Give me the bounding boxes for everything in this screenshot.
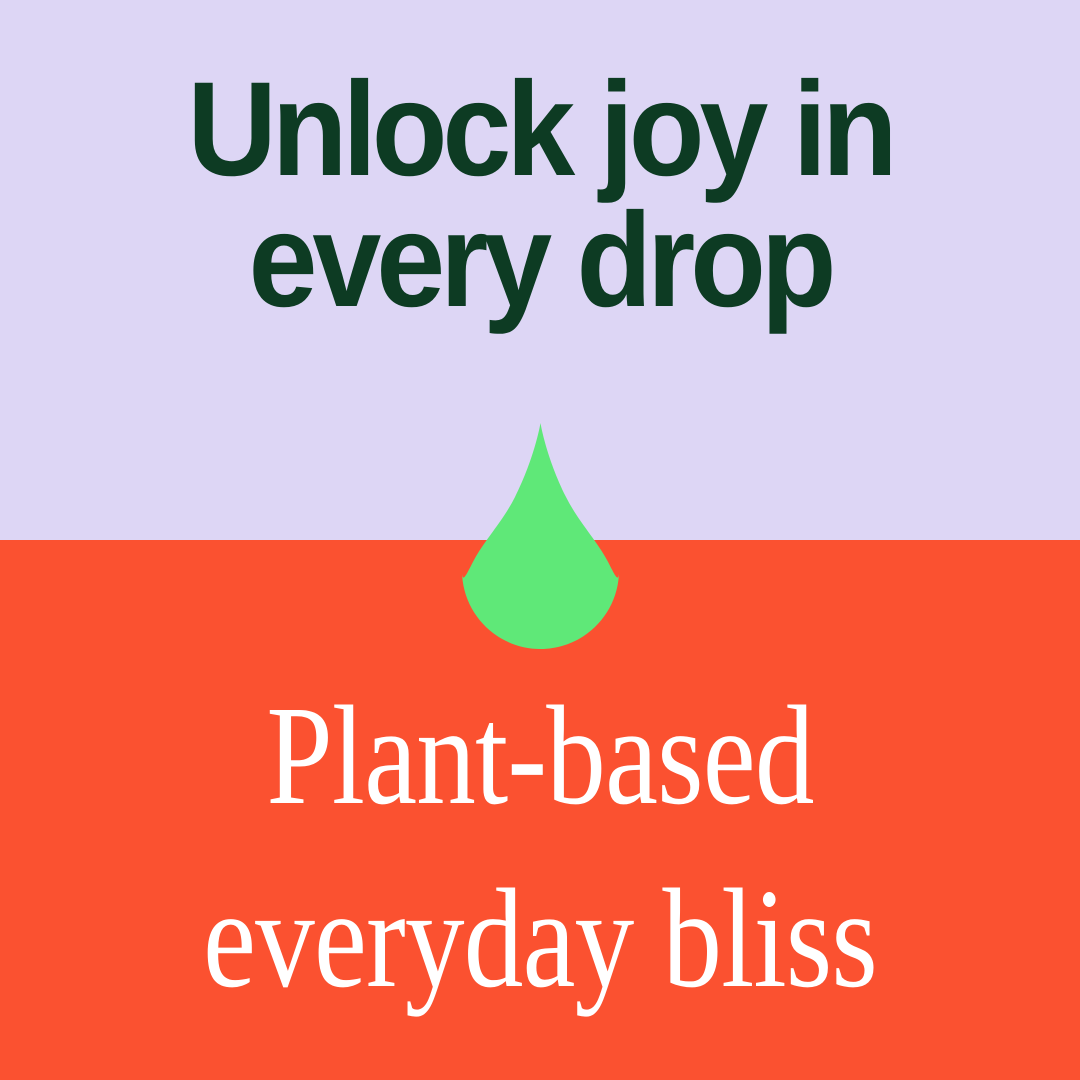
poster-canvas: Unlock joy in every drop Plant-based eve… [0, 0, 1080, 1080]
headline-line-1: Unlock joy in [41, 64, 1040, 195]
headline: Unlock joy in every drop [41, 64, 1040, 327]
headline-line-2: every drop [41, 195, 1040, 326]
subhead-line-1: Plant-based [86, 664, 993, 847]
water-droplet-icon [462, 423, 619, 649]
subhead-line-2: everyday bliss [86, 847, 993, 1030]
subhead: Plant-based everyday bliss [86, 664, 993, 1030]
